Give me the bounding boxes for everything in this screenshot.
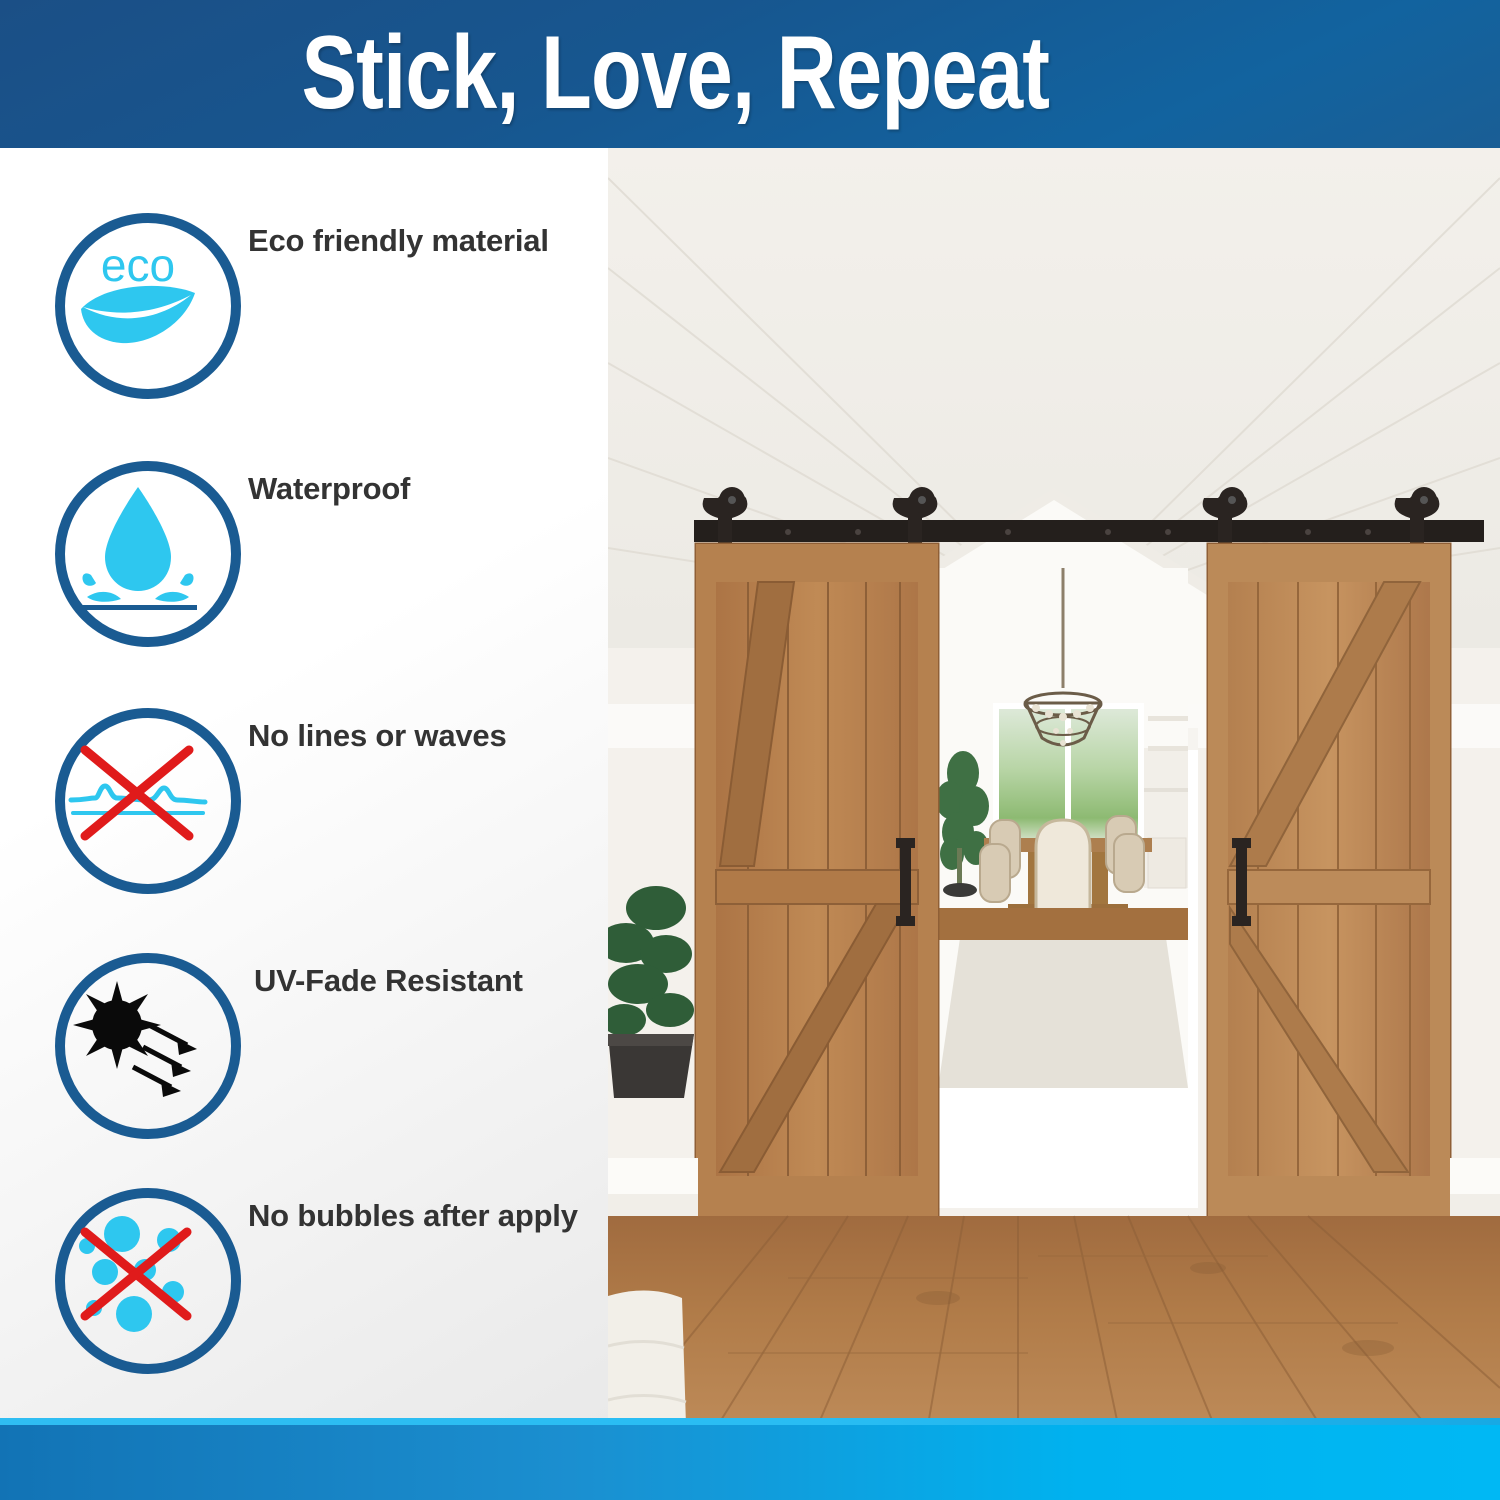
right-barn-door <box>1208 544 1450 1216</box>
eco-leaf-icon: eco <box>65 223 211 369</box>
sun-uv-rays-icon <box>65 963 211 1109</box>
white-ottoman <box>608 1290 686 1425</box>
footer-bar <box>0 1425 1500 1500</box>
eco-badge-text: eco <box>101 239 175 291</box>
feature-label: UV-Fade Resistant <box>254 963 523 999</box>
feature-list-panel: eco Eco friendly material Waterproof <box>0 148 608 1425</box>
infographic-canvas: Stick, Love, Repeat eco Eco friendly mat… <box>0 0 1500 1500</box>
feature-label: Waterproof <box>248 471 410 507</box>
header-banner: Stick, Love, Repeat <box>0 0 1500 148</box>
left-barn-door <box>696 544 938 1216</box>
door-handle <box>1236 838 1247 926</box>
wood-floor <box>608 1216 1500 1425</box>
no-bubbles-icon <box>65 1198 211 1344</box>
water-drop-icon <box>65 471 211 617</box>
feature-label: No lines or waves <box>248 718 506 754</box>
door-handle <box>900 838 911 926</box>
feature-label: No bubbles after apply <box>248 1198 578 1234</box>
no-waves-icon <box>65 718 211 864</box>
barn-door-room-illustration <box>608 148 1500 1425</box>
page-title: Stick, Love, Repeat <box>301 21 1049 125</box>
feature-label: Eco friendly material <box>248 223 549 259</box>
product-photo-barn-doors <box>608 148 1500 1425</box>
